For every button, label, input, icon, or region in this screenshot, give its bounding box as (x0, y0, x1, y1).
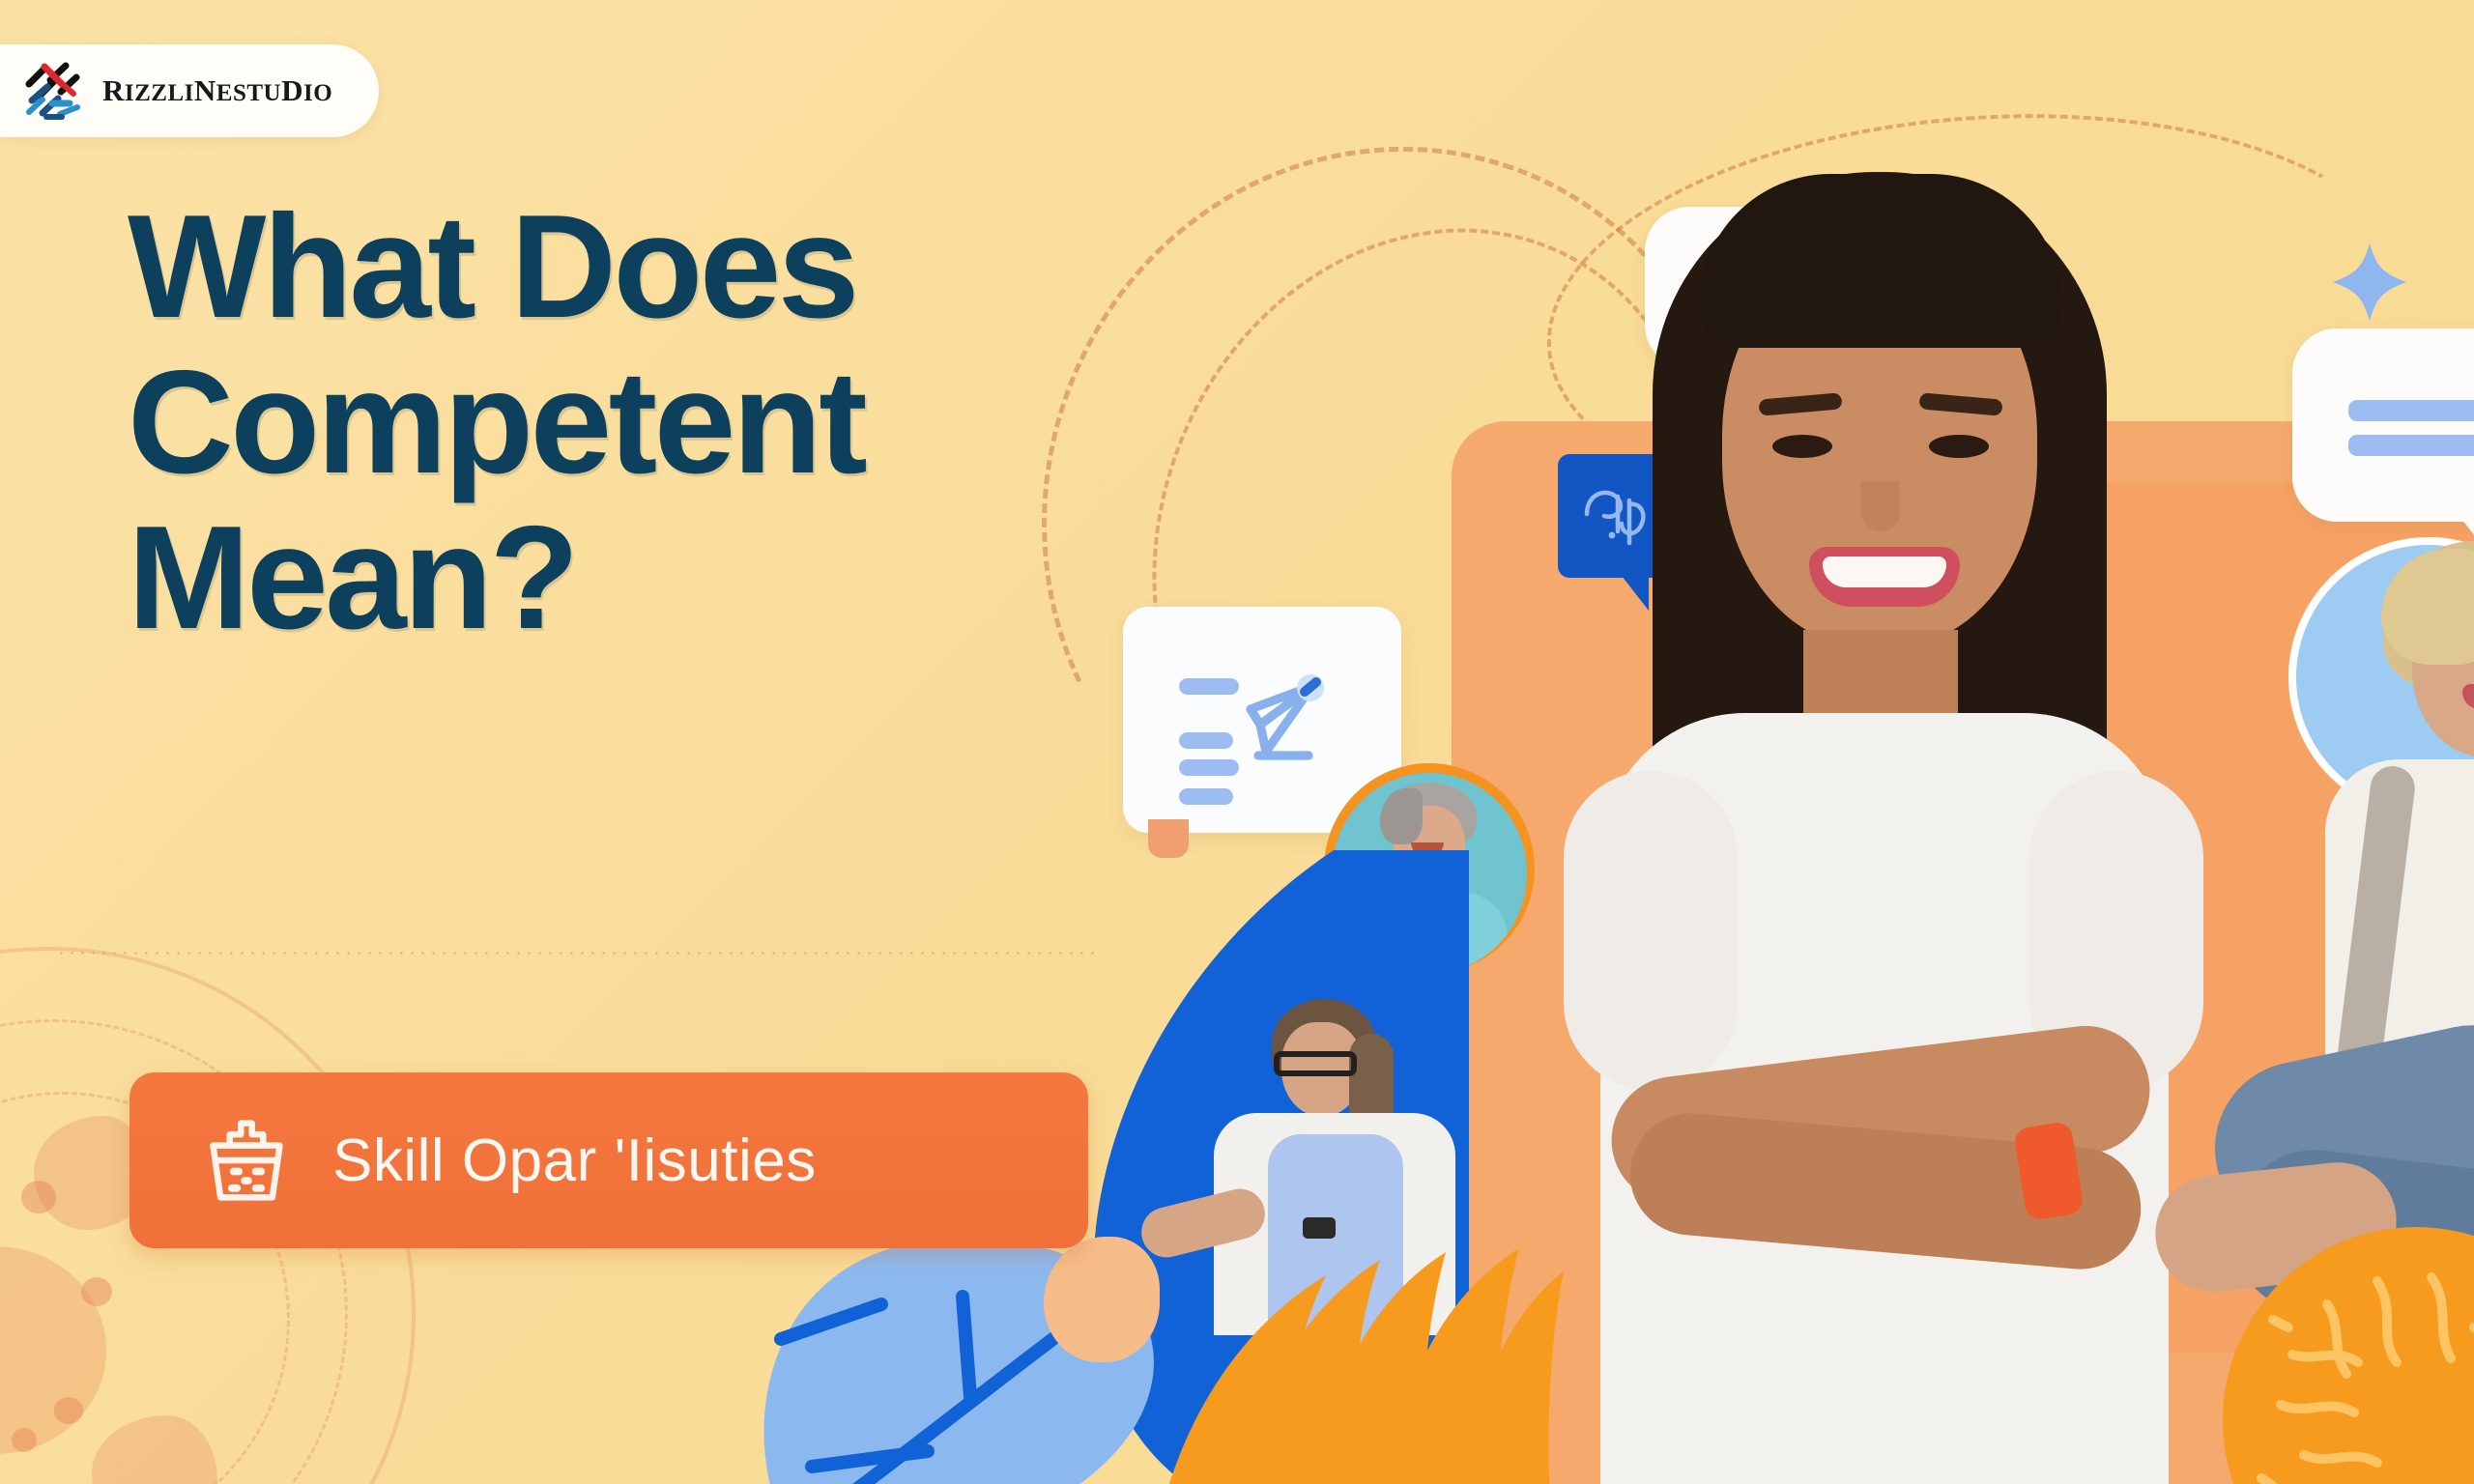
page-title: What Does Competent Mean? (128, 189, 1278, 656)
sparkle-icon (2333, 243, 2406, 321)
glasses-icon (1274, 1051, 1357, 1076)
text-speech-bubble (2292, 328, 2474, 522)
brand-name: RIZZLINESTUDIO (102, 73, 332, 108)
woven-crosshatch-logo-icon (23, 61, 87, 121)
brand-logo[interactable]: RIZZLINESTUDIO (0, 44, 379, 137)
palm-leaf-orange (1148, 1217, 1564, 1484)
banner-canvas: RIZZLINESTUDIO What Does Competent Mean?… (0, 0, 2474, 1484)
peach-blob (1044, 1237, 1160, 1362)
hero-illustration (1218, 0, 2474, 1484)
basket-icon (205, 1116, 288, 1205)
send-icon (1239, 674, 1328, 763)
dotted-divider (56, 952, 1098, 955)
headline-line-2: Competent (128, 345, 1278, 500)
woman-smiling-main (1537, 153, 2232, 1484)
skill-opportunities-button[interactable]: Skill Opar 'Iisuties (129, 1072, 1088, 1248)
headline-line-3: Mean? (128, 500, 1278, 656)
headline-line-1: What Does (128, 189, 1278, 345)
cta-label: Skill Opar 'Iisuties (332, 1127, 817, 1195)
